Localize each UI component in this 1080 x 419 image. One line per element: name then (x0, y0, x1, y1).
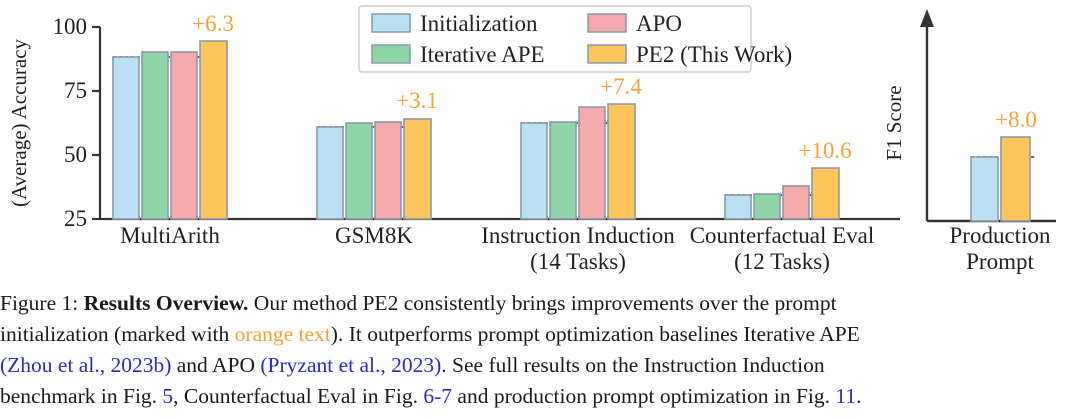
caption-line2-text-b: ). It outperforms prompt optimization ba… (331, 322, 860, 346)
legend-swatch-iterative-ape (372, 45, 410, 63)
bar-group-counterfactual-eval: +10.6 Counterfactual Eval (12 Tasks) (690, 138, 875, 274)
f1-x-label-line2: Prompt (966, 249, 1034, 274)
group-label-instruction-induction: Instruction Induction (481, 223, 675, 248)
bar-pe2 (200, 41, 227, 219)
caption-citation-zhou[interactable]: (Zhou et al., 2023b) (0, 353, 171, 377)
bar-pe2 (608, 104, 635, 219)
delta-annotation: +6.3 (192, 11, 234, 36)
f1-delta-annotation: +8.0 (995, 107, 1037, 132)
f1-bar-pe2 (1001, 137, 1030, 221)
right-panel: F1 Score +8.0 Production Prompt (882, 9, 1056, 274)
group-label-multiarith: MultiArith (120, 223, 220, 248)
caption-figure-number: Figure 1: (0, 291, 78, 315)
caption-line1-text: Our method PE2 consistently brings impro… (248, 291, 836, 315)
delta-annotation: +7.4 (600, 74, 642, 99)
bar-iterative-ape (550, 122, 576, 219)
legend-label-apo: APO (636, 11, 682, 36)
caption-line-2: initialization (marked with orange text)… (0, 319, 1080, 350)
group-label-counterfactual-eval: Counterfactual Eval (690, 223, 875, 248)
caption-line-1: Figure 1: Results Overview. Our method P… (0, 288, 1080, 319)
f1-x-label-line1: Production (950, 223, 1051, 248)
f1-bar-initialization (971, 157, 998, 221)
y-axis-label: (Average) Accuracy (7, 38, 31, 207)
caption-line3-text-a: and APO (171, 353, 260, 377)
figure-svg: 100 75 50 25 (Average) Accuracy +6.3 Mul… (0, 0, 1080, 285)
caption-line4-text-d: . (856, 384, 861, 408)
caption-line4-text-c: and production prompt optimization in Fi… (452, 384, 835, 408)
figure-caption: Figure 1: Results Overview. Our method P… (0, 288, 1080, 412)
caption-line-4: benchmark in Fig. 5, Counterfactual Eval… (0, 381, 1080, 412)
bar-initialization (521, 123, 547, 219)
f1-y-axis-arrow-icon (920, 9, 934, 27)
legend: Initialization APO Iterative APE PE2 (Th… (359, 6, 792, 72)
caption-line2-text-a: initialization (marked with (0, 322, 235, 346)
bar-apo (375, 122, 401, 219)
bar-group-multiarith: +6.3 MultiArith (113, 11, 234, 248)
legend-swatch-apo (588, 14, 626, 32)
legend-swatch-initialization (372, 14, 410, 32)
caption-ref-fig5[interactable]: 5 (162, 384, 173, 408)
y-tick-label-25: 25 (64, 206, 87, 231)
bar-iterative-ape (346, 123, 372, 219)
caption-orange-text: orange text (235, 322, 331, 346)
caption-bold-title: Results Overview. (84, 291, 249, 315)
figure-results-overview: 100 75 50 25 (Average) Accuracy +6.3 Mul… (0, 0, 1080, 285)
bar-pe2 (404, 119, 431, 219)
bar-apo (783, 186, 809, 219)
legend-label-iterative-ape: Iterative APE (420, 42, 545, 67)
legend-label-initialization: Initialization (420, 11, 538, 36)
group-sublabel-instruction-induction: (14 Tasks) (530, 249, 626, 274)
bar-initialization (113, 57, 139, 219)
bar-group-gsm8k: +3.1 GSM8K (317, 88, 438, 248)
y-tick-label-100: 100 (53, 14, 88, 39)
group-sublabel-counterfactual-eval: (12 Tasks) (734, 249, 830, 274)
caption-ref-fig67[interactable]: 6-7 (423, 384, 452, 408)
bar-iterative-ape (754, 194, 780, 219)
bar-iterative-ape (142, 52, 168, 219)
caption-citation-pryzant[interactable]: (Pryzant et al., 2023) (260, 353, 441, 377)
bar-initialization (317, 127, 343, 219)
group-label-gsm8k: GSM8K (335, 223, 413, 248)
caption-ref-fig11[interactable]: 11 (835, 384, 856, 408)
caption-line4-text-a: benchmark in Fig. (0, 384, 162, 408)
delta-annotation: +10.6 (798, 138, 851, 163)
caption-line-3: (Zhou et al., 2023b) and APO (Pryzant et… (0, 350, 1080, 381)
bar-apo (171, 52, 197, 219)
legend-swatch-pe2 (588, 45, 626, 63)
delta-annotation: +3.1 (396, 88, 438, 113)
bar-group-instruction-induction: +7.4 Instruction Induction (14 Tasks) (481, 74, 675, 274)
bar-apo (579, 107, 605, 219)
bar-pe2 (812, 168, 839, 219)
bar-initialization (725, 195, 751, 219)
legend-label-pe2: PE2 (This Work) (636, 42, 792, 67)
f1-y-axis-label: F1 Score (882, 85, 906, 160)
y-tick-label-50: 50 (64, 142, 87, 167)
y-tick-label-75: 75 (64, 78, 87, 103)
caption-line3-text-b: . See full results on the Instruction In… (441, 353, 824, 377)
caption-line4-text-b: , Counterfactual Eval in Fig. (173, 384, 423, 408)
